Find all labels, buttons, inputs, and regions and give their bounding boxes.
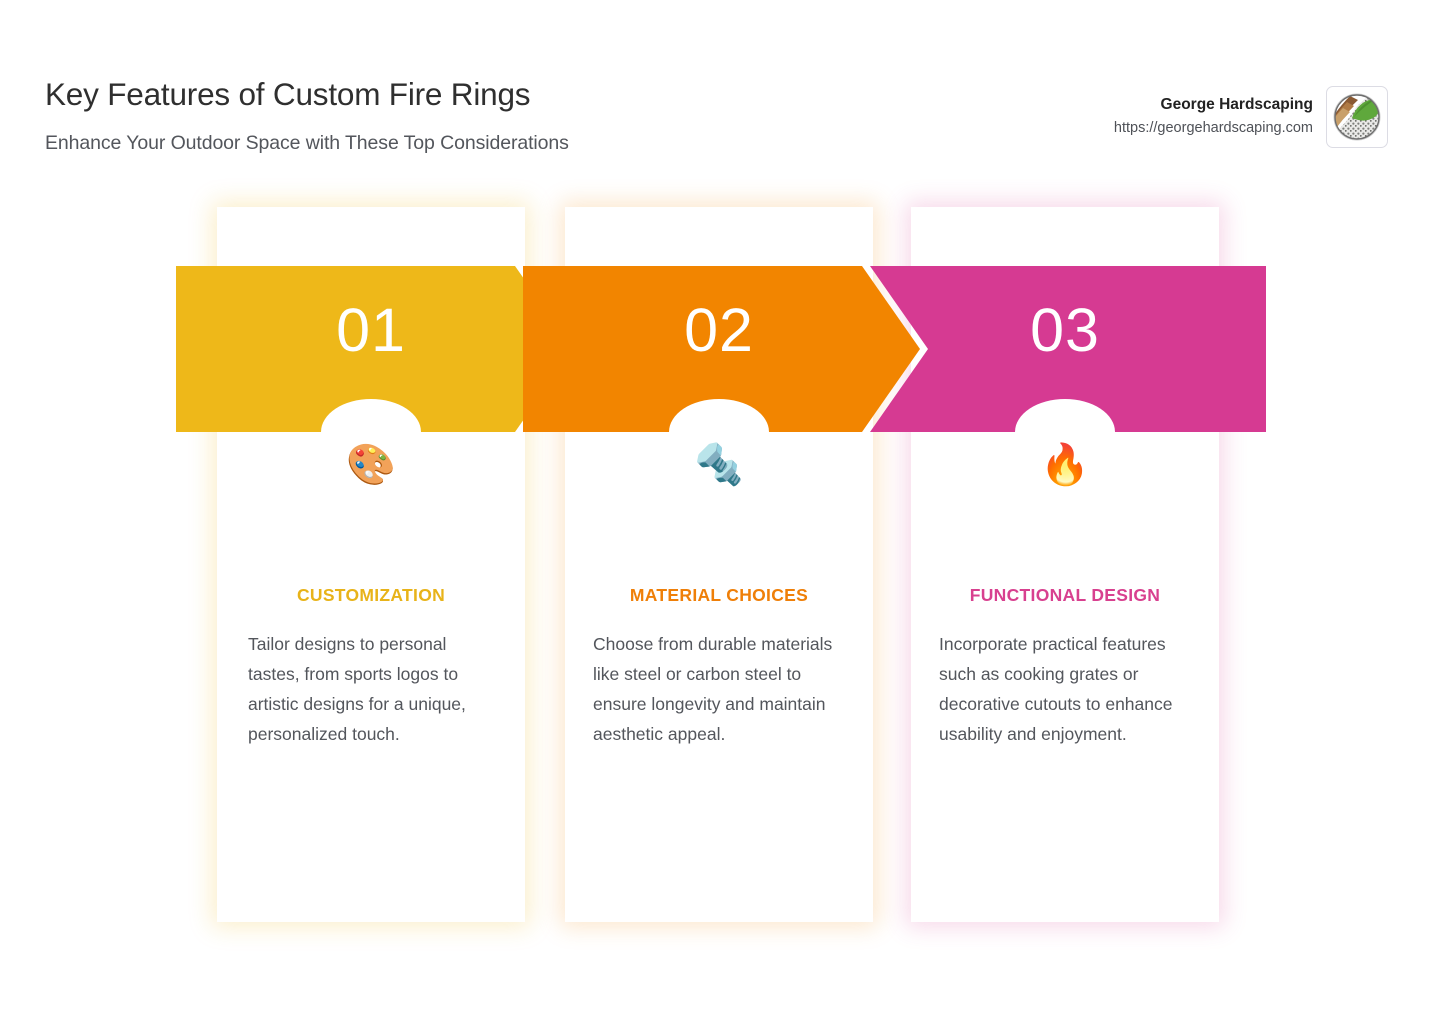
step-card-3-heading: FUNCTIONAL DESIGN <box>911 585 1219 606</box>
step-card-2[interactable]: 🔩 MATERIAL CHOICES Choose from durable m… <box>565 207 873 922</box>
steps-container: 🎨 CUSTOMIZATION Tailor designs to person… <box>0 0 1440 1024</box>
artist-palette-icon: 🎨 <box>217 445 525 485</box>
nut-and-bolt-icon: 🔩 <box>565 445 873 485</box>
step-card-3-inner: 🔥 FUNCTIONAL DESIGN Incorporate practica… <box>911 207 1219 922</box>
step-card-2-heading: MATERIAL CHOICES <box>565 585 873 606</box>
step-card-1[interactable]: 🎨 CUSTOMIZATION Tailor designs to person… <box>217 207 525 922</box>
step-card-1-inner: 🎨 CUSTOMIZATION Tailor designs to person… <box>217 207 525 922</box>
step-card-1-heading: CUSTOMIZATION <box>217 585 525 606</box>
step-card-3[interactable]: 🔥 FUNCTIONAL DESIGN Incorporate practica… <box>911 207 1219 922</box>
fire-icon: 🔥 <box>911 445 1219 485</box>
step-card-2-body: Choose from durable materials like steel… <box>593 629 845 749</box>
step-card-3-body: Incorporate practical features such as c… <box>939 629 1195 749</box>
step-card-1-body: Tailor designs to personal tastes, from … <box>248 629 500 749</box>
step-card-2-inner: 🔩 MATERIAL CHOICES Choose from durable m… <box>565 207 873 922</box>
